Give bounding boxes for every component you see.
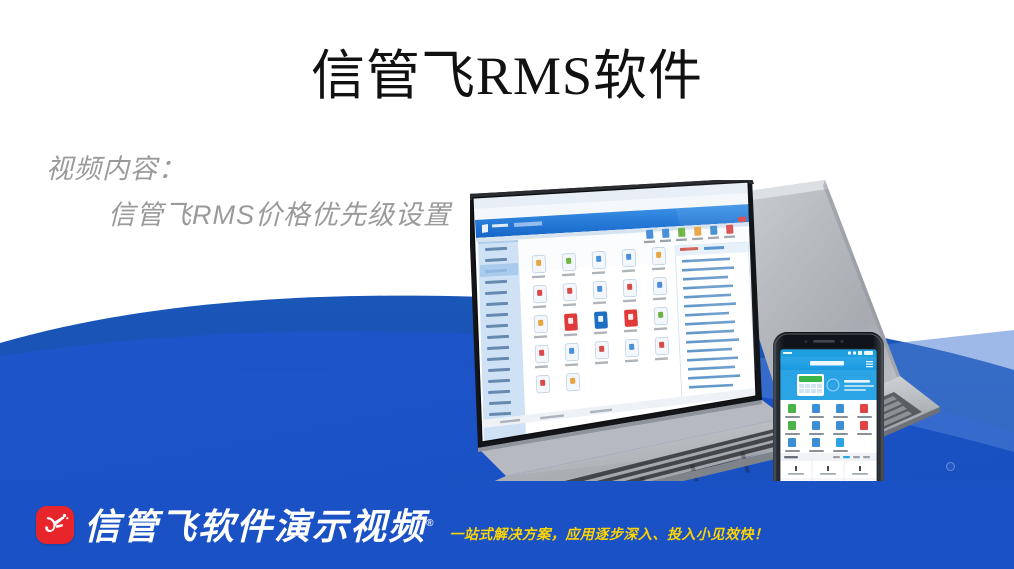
banner-title-text: 信管飞软件演示视频	[84, 506, 426, 547]
banner-title: 信管飞软件演示视频®	[84, 504, 435, 547]
device-mockup-group	[470, 180, 1014, 510]
subtitle-topic: 信管飞RMS价格优先级设置	[46, 196, 451, 234]
page-title: 信管飞RMS软件	[0, 44, 1014, 108]
brand-logo-icon: 飞	[36, 506, 74, 544]
trademark-mark: ®	[426, 518, 435, 529]
slide-canvas: 信管飞RMS软件 视频内容： 信管飞RMS价格优先级设置	[0, 0, 1014, 569]
banner-tagline: 一站式解决方案，应用逐步深入、投入小见效快！	[449, 524, 768, 544]
bottom-brand-banner: 飞 信管飞软件演示视频® 一站式解决方案，应用逐步深入、投入小见效快！	[0, 481, 1014, 569]
subtitle-block: 视频内容： 信管飞RMS价格优先级设置	[46, 150, 451, 234]
subtitle-label: 视频内容：	[46, 150, 451, 188]
